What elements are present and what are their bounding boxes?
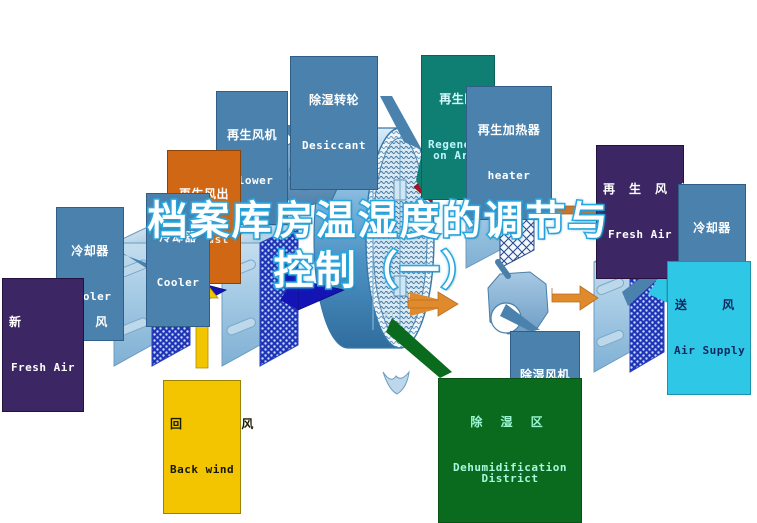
callout-back-wind[interactable]: 回 风 Back wind: [163, 380, 241, 514]
callout-dehumidification-district[interactable]: 除 湿 区 Dehumidification District: [438, 378, 582, 523]
callout-back-wind-cn: 回 风: [170, 418, 234, 431]
callout-dehumidification-district-cn: 除 湿 区: [445, 416, 575, 429]
callout-regeneration-fresh-air-cn: 再生风进: [603, 183, 677, 196]
dehumidifier-flow-diagram: xt: [0, 0, 757, 488]
callout-air-supply-cn: 送 风: [674, 299, 744, 312]
callout-desiccant[interactable]: 除湿转轮 Desiccant: [290, 56, 378, 190]
callout-air-supply-en: Air Supply: [674, 345, 744, 357]
callout-regeneration-heater-cn: 再生加热器: [473, 124, 545, 137]
callout-fresh-air[interactable]: 新 风 Fresh Air: [2, 278, 84, 412]
callout-regeneration-blower-cn: 再生风机: [223, 129, 281, 142]
callout-desiccant-cn: 除湿转轮: [297, 94, 371, 107]
leader-desiccant: [380, 96, 422, 150]
callout-fresh-air-cn: 新 风: [9, 316, 77, 329]
page-title: 档案库房温湿度的调节与 控制（一）: [0, 196, 757, 296]
callout-desiccant-en: Desiccant: [297, 140, 371, 152]
callout-dehumidification-district-en: Dehumidification District: [445, 462, 575, 485]
leader-dehum-district: [386, 318, 452, 378]
page-title-line-1: 档案库房温湿度的调节与: [0, 196, 757, 246]
leader-dehum-blower: [500, 304, 540, 330]
callout-regeneration-heater-en: heater: [473, 170, 545, 182]
callout-fresh-air-en: Fresh Air: [9, 362, 77, 374]
callout-back-wind-en: Back wind: [170, 464, 234, 476]
page-title-line-2: 控制（一）: [0, 246, 757, 296]
